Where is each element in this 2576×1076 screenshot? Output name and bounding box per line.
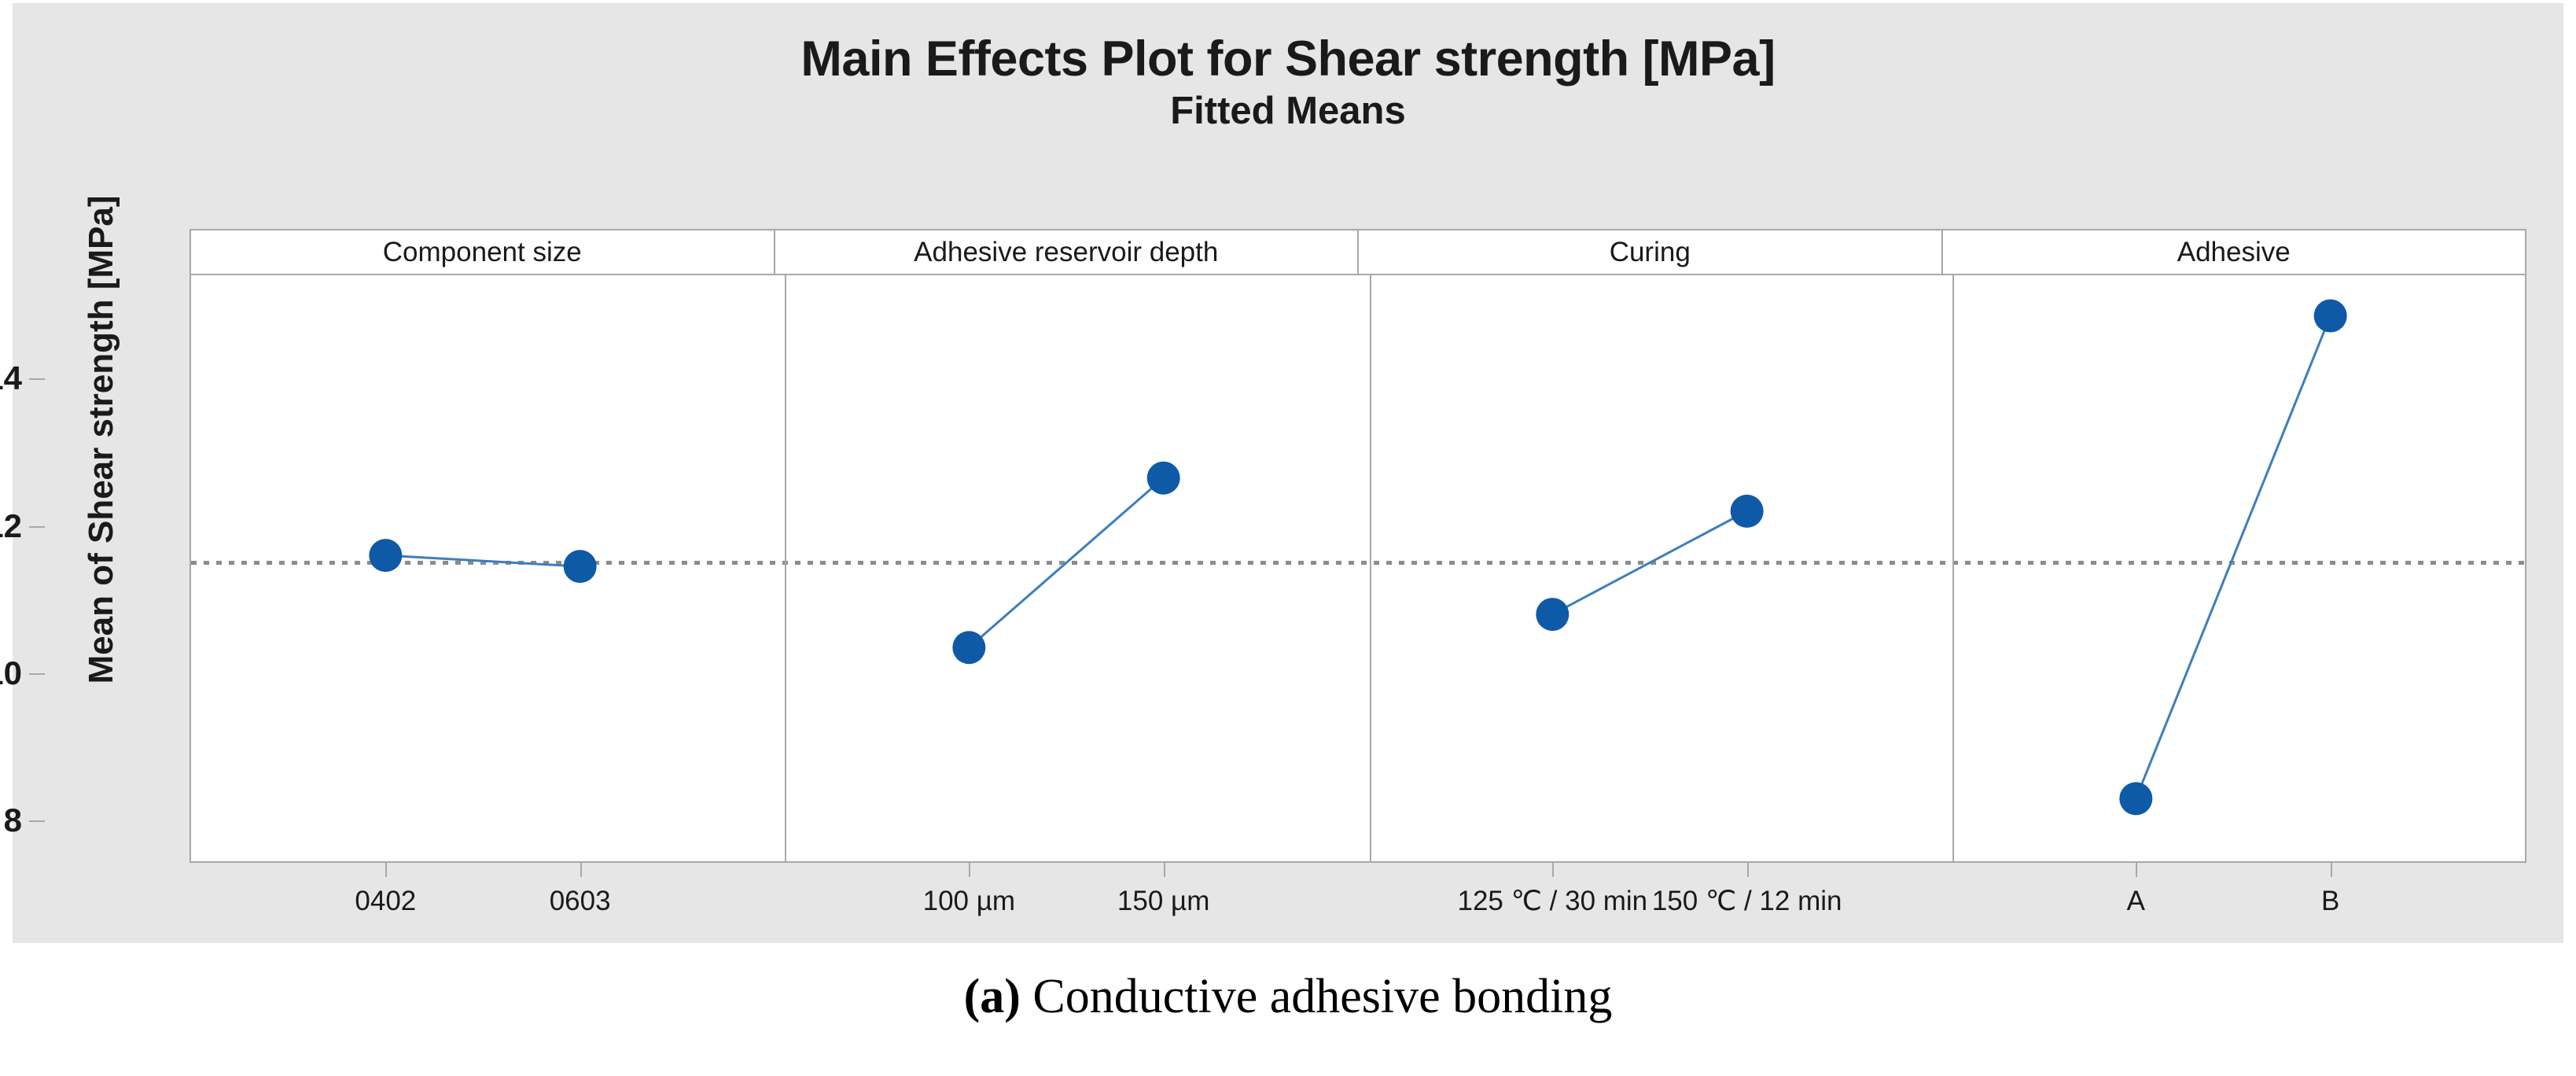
x-tick-mark [1552,863,1554,877]
data-point-marker [369,539,402,572]
data-point-marker [564,550,597,583]
data-point-marker [1731,495,1764,528]
panel-header-curing: Curing [1359,230,1943,274]
x-tick-mark [1164,863,1165,877]
x-tick-mark [580,863,582,877]
minitab-plot-card: Main Effects Plot for Shear strength [MP… [13,3,2563,943]
x-tick-mark [385,863,387,877]
panel-header-adhesive: Adhesive [1943,230,2526,274]
x-tick-label: 125 ℃ / 30 min [1458,886,1648,917]
y-tick-label: 14 [0,359,22,397]
caption-text: Conductive adhesive bonding [1021,970,1612,1023]
y-tick-label: 12 [0,507,22,545]
x-tick-mark [1747,863,1749,877]
series-line [385,555,580,566]
data-point-marker [1536,598,1569,631]
chart-subtitle: Fitted Means [13,91,2563,131]
y-tick-label: 8 [0,801,22,839]
caption-tag: (a) [964,970,1021,1023]
main-effects-figure: Main Effects Plot for Shear strength [MP… [0,0,2576,1076]
panel-header-adhesive-reservoir-depth: Adhesive reservoir depth [775,230,1360,274]
data-point-marker [952,631,985,664]
x-tick-label: 150 µm [1117,886,1209,917]
x-tick-label: 150 ℃ / 12 min [1652,886,1842,917]
data-point-marker [2314,300,2347,333]
plot-area [191,275,2525,861]
panel-divider-1 [785,275,786,861]
figure-caption: (a) Conductive adhesive bonding [0,969,2576,1025]
x-tick-label: B [2321,886,2339,917]
x-tick-mark [2136,863,2137,877]
data-point-marker [2119,782,2152,815]
x-tick-label: A [2127,886,2145,917]
y-axis-title: Mean of Shear strength [MPa] [82,125,121,754]
panel-header-row: Component size Adhesive reservoir depth … [191,230,2525,275]
chart-title: Main Effects Plot for Shear strength [MP… [13,33,2563,85]
panel-header-component-size: Component size [191,230,775,274]
x-tick-mark [969,863,970,877]
panel-frame: Component size Adhesive reservoir depth … [190,229,2526,863]
panel-divider-2 [1370,275,1371,861]
y-tick-mark [29,673,45,675]
y-tick-label: 10 [0,654,22,692]
series-line [2136,316,2330,799]
panel-divider-3 [1952,275,1954,861]
x-tick-label: 0402 [355,886,416,917]
y-tick-mark [29,378,45,380]
y-tick-mark [29,526,45,528]
y-tick-mark [29,820,45,822]
x-tick-label: 100 µm [923,886,1015,917]
x-tick-label: 0603 [550,886,611,917]
x-tick-mark [2331,863,2332,877]
series-layer [191,275,2525,861]
data-point-marker [1147,462,1180,495]
